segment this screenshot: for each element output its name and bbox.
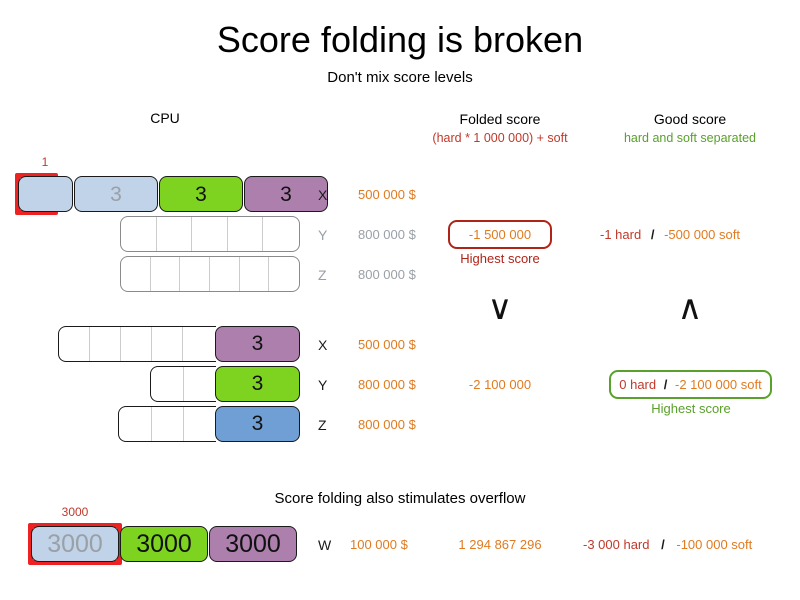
bar-segment: 3 (215, 326, 300, 362)
good-score-soft: -100 000 soft (676, 537, 752, 552)
folded-score-box-group1: -1 500 000 (448, 220, 552, 249)
bar-segment: 3 (215, 366, 300, 402)
row-cost-z: 800 000 $ (358, 416, 416, 434)
empty-cell (121, 217, 157, 251)
comparator-folded-icon: ∨ (460, 292, 540, 326)
row-cost-x: 500 000 $ (358, 186, 416, 204)
empty-cell (184, 367, 217, 401)
capacity-label-group1: 1 (28, 155, 62, 169)
empty-cell (152, 407, 185, 441)
slide-canvas: Score folding is broken Don't mix score … (0, 0, 800, 600)
bar-segment: 3 (215, 406, 300, 442)
bar-group2-row-x: 3 (58, 326, 300, 362)
bar-segment: 3 (74, 176, 158, 212)
row-label-z: Z (318, 416, 327, 434)
bar-segment: 3000 (120, 526, 208, 562)
empty-cell (151, 367, 184, 401)
empty-cell (151, 257, 181, 291)
empty-cell (119, 407, 152, 441)
highest-score-note-good: Highest score (610, 401, 772, 417)
capacity-label-group3: 3000 (46, 505, 104, 519)
empty-cell (228, 217, 264, 251)
empty-cell (263, 217, 299, 251)
empty-cell (240, 257, 270, 291)
empty-cell (121, 327, 152, 361)
good-score-separator: / (661, 537, 665, 552)
empty-cell (269, 257, 299, 291)
row-label-x: X (318, 186, 327, 204)
folded-score-group2: -2 100 000 (440, 376, 560, 394)
bar-group2-row-y: 3 (150, 366, 300, 402)
bar-group1-row-y (120, 216, 300, 252)
row-cost-y: 800 000 $ (358, 226, 416, 244)
highest-score-note-folded: Highest score (440, 251, 560, 267)
empty-cell (157, 217, 193, 251)
good-score-separator: / (651, 227, 655, 242)
good-score-hard: -1 hard (600, 227, 641, 242)
empty-cell (192, 217, 228, 251)
bar-group3-row-w: 3000 3000 3000 (31, 526, 297, 562)
column-header-cpu: CPU (105, 109, 225, 127)
empty-cell (183, 327, 214, 361)
column-subheader-folded-formula: (hard * 1 000 000) + soft (390, 130, 610, 146)
empty-cell (90, 327, 121, 361)
good-score-separator: / (664, 377, 668, 392)
bar-group2-row-z: 3 (118, 406, 300, 442)
bar-group1-row-x: 3 3 3 (18, 176, 328, 212)
bar-segment (18, 176, 73, 212)
page-title: Score folding is broken (0, 18, 800, 62)
comparator-good-icon: ∧ (650, 292, 730, 326)
row-cost-x: 500 000 $ (358, 336, 416, 354)
folded-score-group3: 1 294 867 296 (440, 536, 560, 554)
row-label-w: W (318, 536, 331, 554)
row-cost-w: 100 000 $ (350, 536, 408, 554)
good-score-group3: -3 000 hard / -100 000 soft (583, 536, 783, 554)
empty-cell (180, 257, 210, 291)
good-score-group2: 0 hard / -2 100 000 soft (619, 376, 761, 394)
empty-cell (184, 407, 216, 441)
empty-cell (121, 257, 151, 291)
empty-cell (210, 257, 240, 291)
bar-segment: 3000 (31, 526, 119, 562)
good-score-box-group2: 0 hard / -2 100 000 soft (609, 370, 772, 399)
empty-cell (59, 327, 90, 361)
page-subtitle: Don't mix score levels (0, 68, 800, 88)
bar-segment: 3 (244, 176, 328, 212)
row-label-y: Y (318, 226, 327, 244)
column-subheader-good-explanation: hard and soft separated (590, 130, 790, 146)
empty-cell (152, 327, 183, 361)
good-score-soft: -2 100 000 soft (675, 377, 762, 392)
bar-segment: 3000 (209, 526, 297, 562)
folded-score-value: -1 500 000 (469, 226, 531, 244)
column-header-good-score: Good score (590, 110, 790, 128)
row-cost-z: 800 000 $ (358, 266, 416, 284)
good-score-soft: -500 000 soft (664, 227, 740, 242)
row-label-z: Z (318, 266, 327, 284)
good-score-hard: 0 hard (619, 377, 656, 392)
row-label-y: Y (318, 376, 327, 394)
good-score-group1: -1 hard / -500 000 soft (600, 226, 780, 244)
good-score-hard: -3 000 hard (583, 537, 650, 552)
column-header-folded-score: Folded score (400, 110, 600, 128)
bar-segment: 3 (159, 176, 243, 212)
section-title-overflow: Score folding also stimulates overflow (0, 489, 800, 509)
row-cost-y: 800 000 $ (358, 376, 416, 394)
bar-group1-row-z (120, 256, 300, 292)
row-label-x: X (318, 336, 327, 354)
